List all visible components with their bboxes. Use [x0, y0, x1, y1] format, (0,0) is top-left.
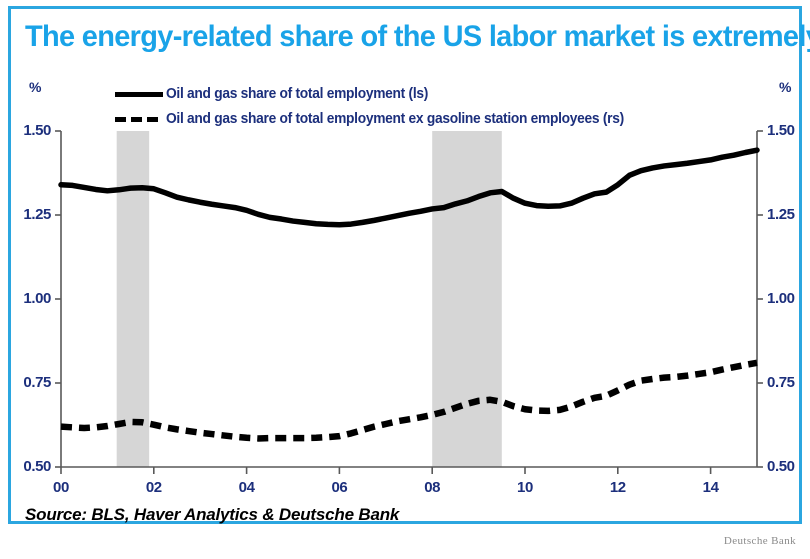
- chart-frame: The energy-related share of the US labor…: [8, 6, 802, 524]
- brand-footer: Deutsche Bank: [724, 535, 796, 547]
- source-note: Source: BLS, Haver Analytics & Deutsche …: [25, 505, 399, 525]
- chart-plot-area: [11, 9, 805, 527]
- recession-bands: [117, 131, 502, 467]
- data-series: [61, 150, 757, 438]
